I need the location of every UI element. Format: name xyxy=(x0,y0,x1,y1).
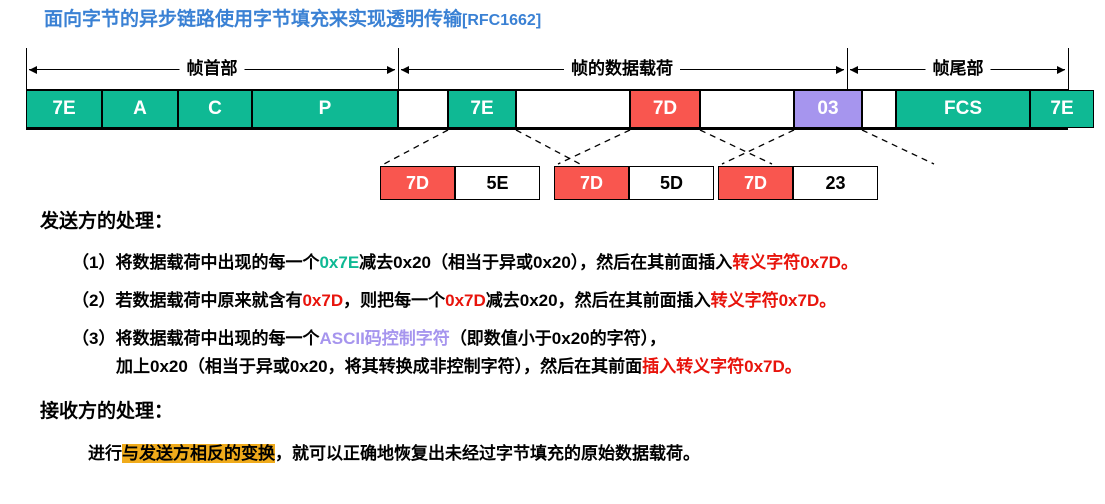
spacer xyxy=(0,381,1105,395)
receiver-part-1: 进行 xyxy=(88,444,122,463)
rule-2-part-4: 0x7D xyxy=(445,291,486,310)
sender-rule-2: （2）若数据载荷中原来就含有0x7D，则把每一个0x7D减去0x20，然后在其前… xyxy=(72,287,1105,315)
sender-rule-3: （3）将数据载荷中出现的每一个ASCII码控制字符（即数值小于0x20的字符），… xyxy=(72,325,1105,381)
sender-rule-1: （1）将数据载荷中出现的每一个0x7E减去0x20（相当于异或0x20），然后在… xyxy=(72,249,1105,277)
rule-3-part-4: 加上0x20（相当于异或0x20，将其转换成非控制字符），然后在其前面 xyxy=(116,357,642,376)
spacer xyxy=(0,239,1105,249)
expansion-value-byte: 5D xyxy=(629,166,714,200)
rule-2-part-6: 转义字符0x7D。 xyxy=(711,291,837,310)
expansion-value-byte: 23 xyxy=(793,166,878,200)
expansion-pair-03: 7D 23 xyxy=(718,166,918,200)
rule-2-part-1: 若数据载荷中原来就含有 xyxy=(115,291,302,310)
page-title: 面向字节的异步链路使用字节填充来实现透明传输[RFC1662] xyxy=(44,4,541,31)
rule-2-part-2: 0x7D xyxy=(302,291,343,310)
spacer xyxy=(0,429,1105,439)
rule-3-index: （3） xyxy=(72,329,115,348)
expansion-escape-byte: 7D xyxy=(554,166,629,200)
receiver-part-3: ，就可以正确地恢复出未经过字节填充的原始数据载荷。 xyxy=(275,444,700,463)
rule-2-index: （2） xyxy=(72,291,115,310)
rule-1-part-4: 转义字符0x7D。 xyxy=(732,253,858,272)
expansion-value-byte: 5E xyxy=(455,166,540,200)
frame-diagram: 帧首部 帧的数据载荷 帧尾部 7E A C P 7E 7D 03 FCS 7E … xyxy=(0,48,1105,198)
rule-1-part-3: 减去0x20（相当于异或0x20），然后在其前面插入 xyxy=(359,253,732,272)
rule-2-part-3: ，则把每一个 xyxy=(343,291,445,310)
spacer xyxy=(0,277,1105,287)
rule-3-part-5: 插入转义字符0x7D。 xyxy=(642,357,802,376)
receiver-highlighted-phrase: 与发送方相反的变换 xyxy=(122,444,275,463)
rule-3-part-2: ASCII码控制字符 xyxy=(319,329,449,348)
spacer xyxy=(0,315,1105,325)
page-title-text: 面向字节的异步链路使用字节填充来实现透明传输 xyxy=(44,9,462,30)
rule-3-part-1: 将数据载荷中出现的每一个 xyxy=(115,329,319,348)
expansion-escape-byte: 7D xyxy=(718,166,793,200)
expansion-escape-byte: 7D xyxy=(380,166,455,200)
receiver-line: 进行与发送方相反的变换，就可以正确地恢复出未经过字节填充的原始数据载荷。 xyxy=(88,439,1105,469)
rule-1-part-2: 0x7E xyxy=(319,253,359,272)
rule-2-part-5: 减去0x20，然后在其前面插入 xyxy=(486,291,711,310)
explanation-block: 发送方的处理： （1）将数据载荷中出现的每一个0x7E减去0x20（相当于异或0… xyxy=(0,205,1105,469)
rule-3-part-3: （即数值小于0x20的字符）， xyxy=(450,329,666,348)
sender-rule-3-continued: 加上0x20（相当于异或0x20，将其转换成非控制字符），然后在其前面插入转义字… xyxy=(116,353,1105,381)
page-title-rfc: [RFC1662] xyxy=(462,12,541,29)
expansion-pair-7e: 7D 5E xyxy=(380,166,580,200)
receiver-heading: 接收方的处理： xyxy=(40,395,1105,429)
rule-1-index: （1） xyxy=(72,253,115,272)
rule-1-part-1: 将数据载荷中出现的每一个 xyxy=(115,253,319,272)
sender-heading: 发送方的处理： xyxy=(40,205,1105,239)
